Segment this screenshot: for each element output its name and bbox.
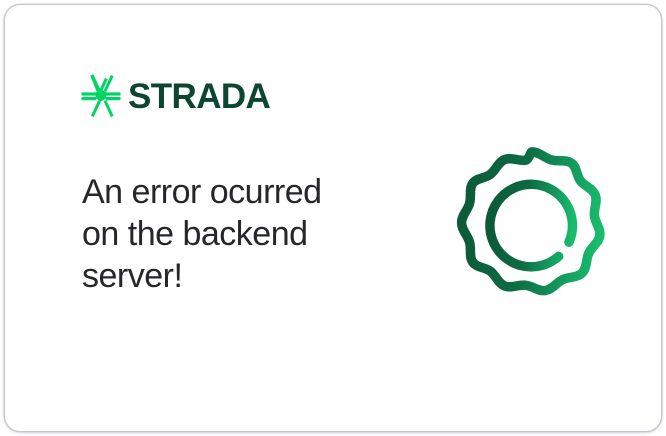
gear-inner-arc: [490, 184, 573, 267]
brand-wordmark: STRADA: [128, 79, 270, 114]
error-page: STRADA An error ocurred on the backend s…: [0, 0, 666, 436]
error-message: An error ocurred on the backend server!: [82, 171, 382, 297]
gear-icon: [446, 139, 618, 311]
error-card: STRADA An error ocurred on the backend s…: [4, 4, 662, 432]
error-message-line: An error ocurred: [82, 171, 382, 213]
strada-asterisk-icon: [81, 74, 121, 118]
brand-logo: STRADA: [81, 73, 270, 119]
error-message-line: on the backend: [82, 213, 382, 255]
error-message-line: server!: [82, 255, 382, 297]
